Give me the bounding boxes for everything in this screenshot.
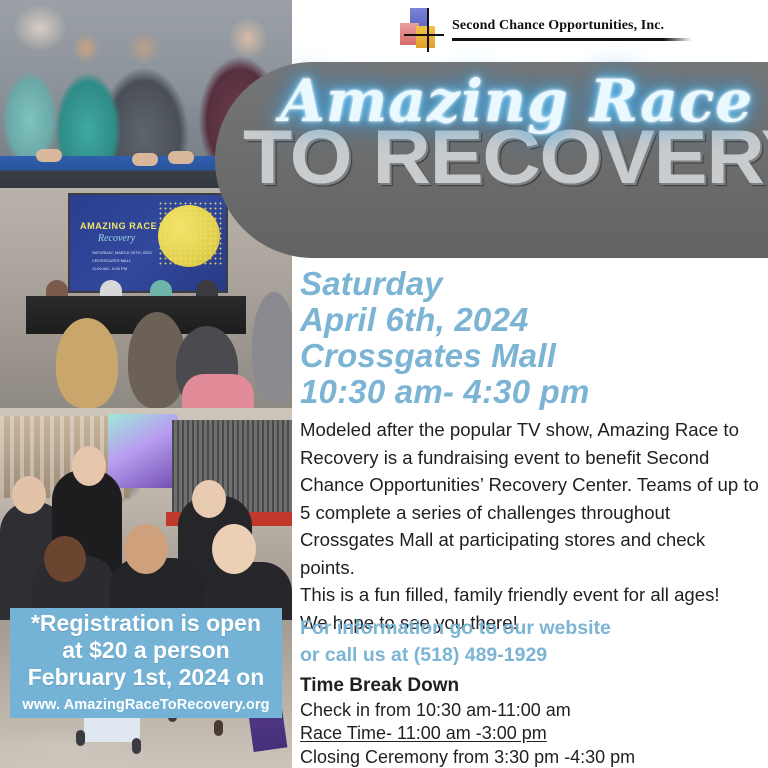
registration-website[interactable]: www. AmazingRaceToRecovery.org — [22, 694, 269, 716]
registration-banner: *Registration is open at $20 a person Fe… — [10, 608, 282, 718]
projected-slide: AMAZING RACE Recovery SATURDAY, MARCH 25… — [68, 193, 228, 293]
schedule-row-race-time: Race Time- 11:00 am -3:00 pm — [300, 722, 760, 746]
audience-member — [56, 318, 118, 408]
organization-logo: Second Chance Opportunities, Inc. — [400, 6, 700, 52]
schedule-heading: Time Break Down — [300, 674, 760, 699]
description-paragraph-1: Modeled after the popular TV show, Amazi… — [300, 416, 760, 581]
person-overhead — [132, 738, 141, 754]
person-face — [44, 536, 86, 582]
schedule-row-check-in: Check in from 10:30 am-11:00 am — [300, 699, 760, 723]
person-face — [124, 524, 168, 574]
slide-detail-3: 11:00 AM - 5:00 PM — [92, 265, 127, 272]
person-face — [72, 446, 106, 486]
contact-website-line[interactable]: For information go to our website — [300, 615, 760, 642]
slide-title-line-1: AMAZING RACE — [80, 221, 157, 231]
person-overhead — [214, 720, 223, 736]
person-face — [12, 476, 46, 514]
event-date: April 6th, 2024 — [300, 302, 760, 338]
flyer-canvas: AMAZING RACE Recovery SATURDAY, MARCH 25… — [0, 0, 768, 768]
second-chance-logo-icon — [400, 8, 444, 52]
slide-detail-1: SATURDAY, MARCH 25TH, 2023 — [92, 249, 152, 256]
logo-underline-rule — [452, 38, 692, 41]
person-face — [212, 524, 256, 574]
logo-square-orange — [416, 26, 435, 48]
organization-name: Second Chance Opportunities, Inc. — [452, 18, 664, 34]
hand-shape — [132, 153, 158, 166]
event-venue: Crossgates Mall — [300, 338, 760, 374]
hand-shape — [168, 151, 194, 164]
event-title-script: Amazing Race — [280, 72, 753, 130]
person-overhead — [76, 730, 85, 746]
registration-line-1: *Registration is open — [31, 610, 261, 637]
event-time: 10:30 am- 4:30 pm — [300, 374, 760, 410]
description-paragraph-2: This is a fun filled, family friendly ev… — [300, 581, 760, 609]
contact-block: For information go to our website or cal… — [300, 615, 760, 669]
logo-cross-horizontal — [404, 34, 444, 36]
contact-phone-line[interactable]: or call us at (518) 489-1929 — [300, 642, 760, 669]
event-details-block: Saturday April 6th, 2024 Crossgates Mall… — [300, 266, 760, 410]
mall-booth — [84, 716, 140, 742]
event-day: Saturday — [300, 266, 760, 302]
photo-team-selfie — [0, 408, 292, 620]
audience-member — [182, 374, 254, 408]
description-block: Modeled after the popular TV show, Amazi… — [300, 416, 760, 636]
schedule-row-closing: Closing Ceremony from 3:30 pm -4:30 pm — [300, 746, 760, 768]
audience-member — [252, 292, 292, 402]
store-poster — [108, 414, 178, 488]
registration-line-2: at $20 a person — [62, 637, 229, 664]
slide-title-line-2: Recovery — [98, 233, 135, 244]
slide-detail-2: CROSSGATES MALL — [92, 257, 131, 264]
registration-line-3: February 1st, 2024 on — [28, 664, 265, 691]
hand-shape — [36, 149, 62, 162]
person-face — [192, 480, 226, 518]
logo-cross-vertical — [427, 8, 429, 52]
schedule-block: Time Break Down Check in from 10:30 am-1… — [300, 674, 760, 768]
header-bar: Second Chance Opportunities, Inc. — [292, 0, 768, 62]
